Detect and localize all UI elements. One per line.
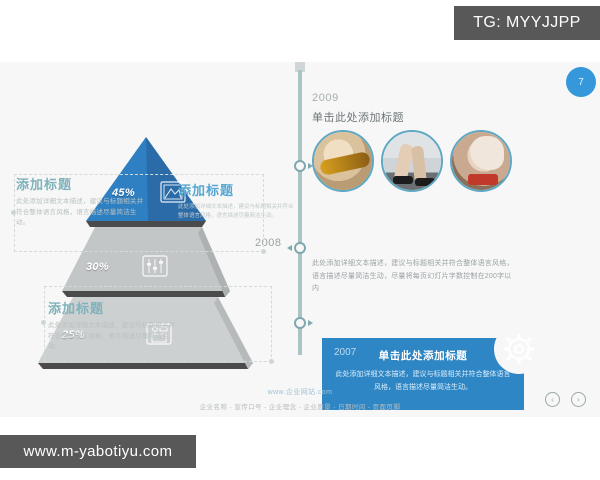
shoe-shape-2 (415, 178, 435, 186)
timeline-marker-2008[interactable] (294, 242, 306, 254)
callout-bottom-left-body: 此处添加详细文本描述，建议与标题相关并符合整体语言风格，语言描述尽量简洁生动。 (48, 321, 180, 353)
callout-top-left[interactable]: 添加标题 此处添加详细文本描述，建议与标题相关并符合整体语言风格，语言描述尽量简… (16, 174, 148, 229)
red-accent-shape (468, 174, 498, 185)
chevron-right-icon: › (577, 395, 580, 404)
photo-woman-sunglasses[interactable] (312, 130, 374, 192)
right-description-text: 此处添加详细文本描述，建议与标题相关并符合整体语言风格，语言描述尽量简洁生动，尽… (312, 258, 518, 296)
right-title: 单击此处添加标题 (312, 109, 524, 125)
photo-woman-portrait[interactable] (450, 130, 512, 192)
vertical-timeline: 2008 (297, 62, 303, 362)
callout-pyramid-top-heading: 添加标题 (178, 180, 296, 199)
mixer-sliders-icon (142, 255, 168, 277)
callout-bottom-left-heading: 添加标题 (48, 298, 180, 317)
footer-tagline: 企业名称 - 宣传口号 - 企业理念 - 企业愿景 - 日期时间 - 页面页脚 (0, 401, 600, 411)
gear-badge[interactable] (494, 324, 544, 374)
website-watermark-chip: www.m-yabotiyu.com (0, 435, 196, 468)
prev-slide-button[interactable]: ‹ (545, 392, 560, 407)
callout-top-left-body: 此处添加详细文本描述，建议与标题相关并符合整体语言风格，语言描述尽量简洁生动。 (16, 197, 148, 229)
timeline-marker-2009[interactable] (294, 160, 306, 172)
presentation-slide: 7 2008 (0, 62, 600, 417)
right-content-block: 2009 单击此处添加标题 (312, 92, 524, 125)
timeline-marker-2007[interactable] (294, 317, 306, 329)
callout-bottom-left[interactable]: 添加标题 此处添加详细文本描述，建议与标题相关并符合整体语言风格，语言描述尽量简… (48, 298, 180, 353)
callout-pyramid-top[interactable]: 添加标题 此处添加详细文本描述，建议与标题相关并符合整体语言风格，语言描述尽量简… (178, 180, 296, 222)
callout-2-dot (41, 320, 46, 325)
chevron-left-icon: ‹ (551, 395, 554, 404)
website-watermark-text: www.m-yabotiyu.com (24, 443, 173, 460)
page-number-text: 7 (578, 77, 584, 88)
slide-screenshot: TG: MYYJJPP 7 2008 (0, 0, 600, 480)
photo-row (312, 130, 524, 192)
callout-1-end-dot (261, 249, 266, 254)
slide-footer: www.企业网站.com 企业名称 - 宣传口号 - 企业理念 - 企业愿景 -… (0, 387, 600, 411)
photo-legs-high-heels[interactable] (381, 130, 443, 192)
gear-icon (502, 332, 536, 366)
next-slide-button[interactable]: › (571, 392, 586, 407)
page-number-badge: 7 (566, 67, 596, 97)
callout-top-left-heading: 添加标题 (16, 174, 148, 193)
telegram-watermark-chip: TG: MYYJJPP (454, 6, 600, 40)
slide-navigation: ‹ › (545, 392, 586, 407)
footer-website: www.企业网站.com (0, 387, 600, 397)
right-year-label: 2009 (312, 92, 524, 104)
timeline-rail (298, 70, 302, 355)
shoe-shape-1 (393, 176, 413, 184)
callout-2-end-dot (269, 359, 274, 364)
timeline-tick-left-icon (287, 245, 292, 251)
hair-shape (470, 136, 504, 170)
pyramid-tier-2-percent: 30% (86, 261, 109, 273)
telegram-watermark-text: TG: MYYJJPP (473, 14, 581, 32)
callout-pyramid-top-body: 此处添加详细文本描述，建议与标题相关并符合整体语言风格，语言描述尽量简洁生动。 (178, 203, 296, 222)
timeline-tick-right-icon (308, 320, 313, 326)
